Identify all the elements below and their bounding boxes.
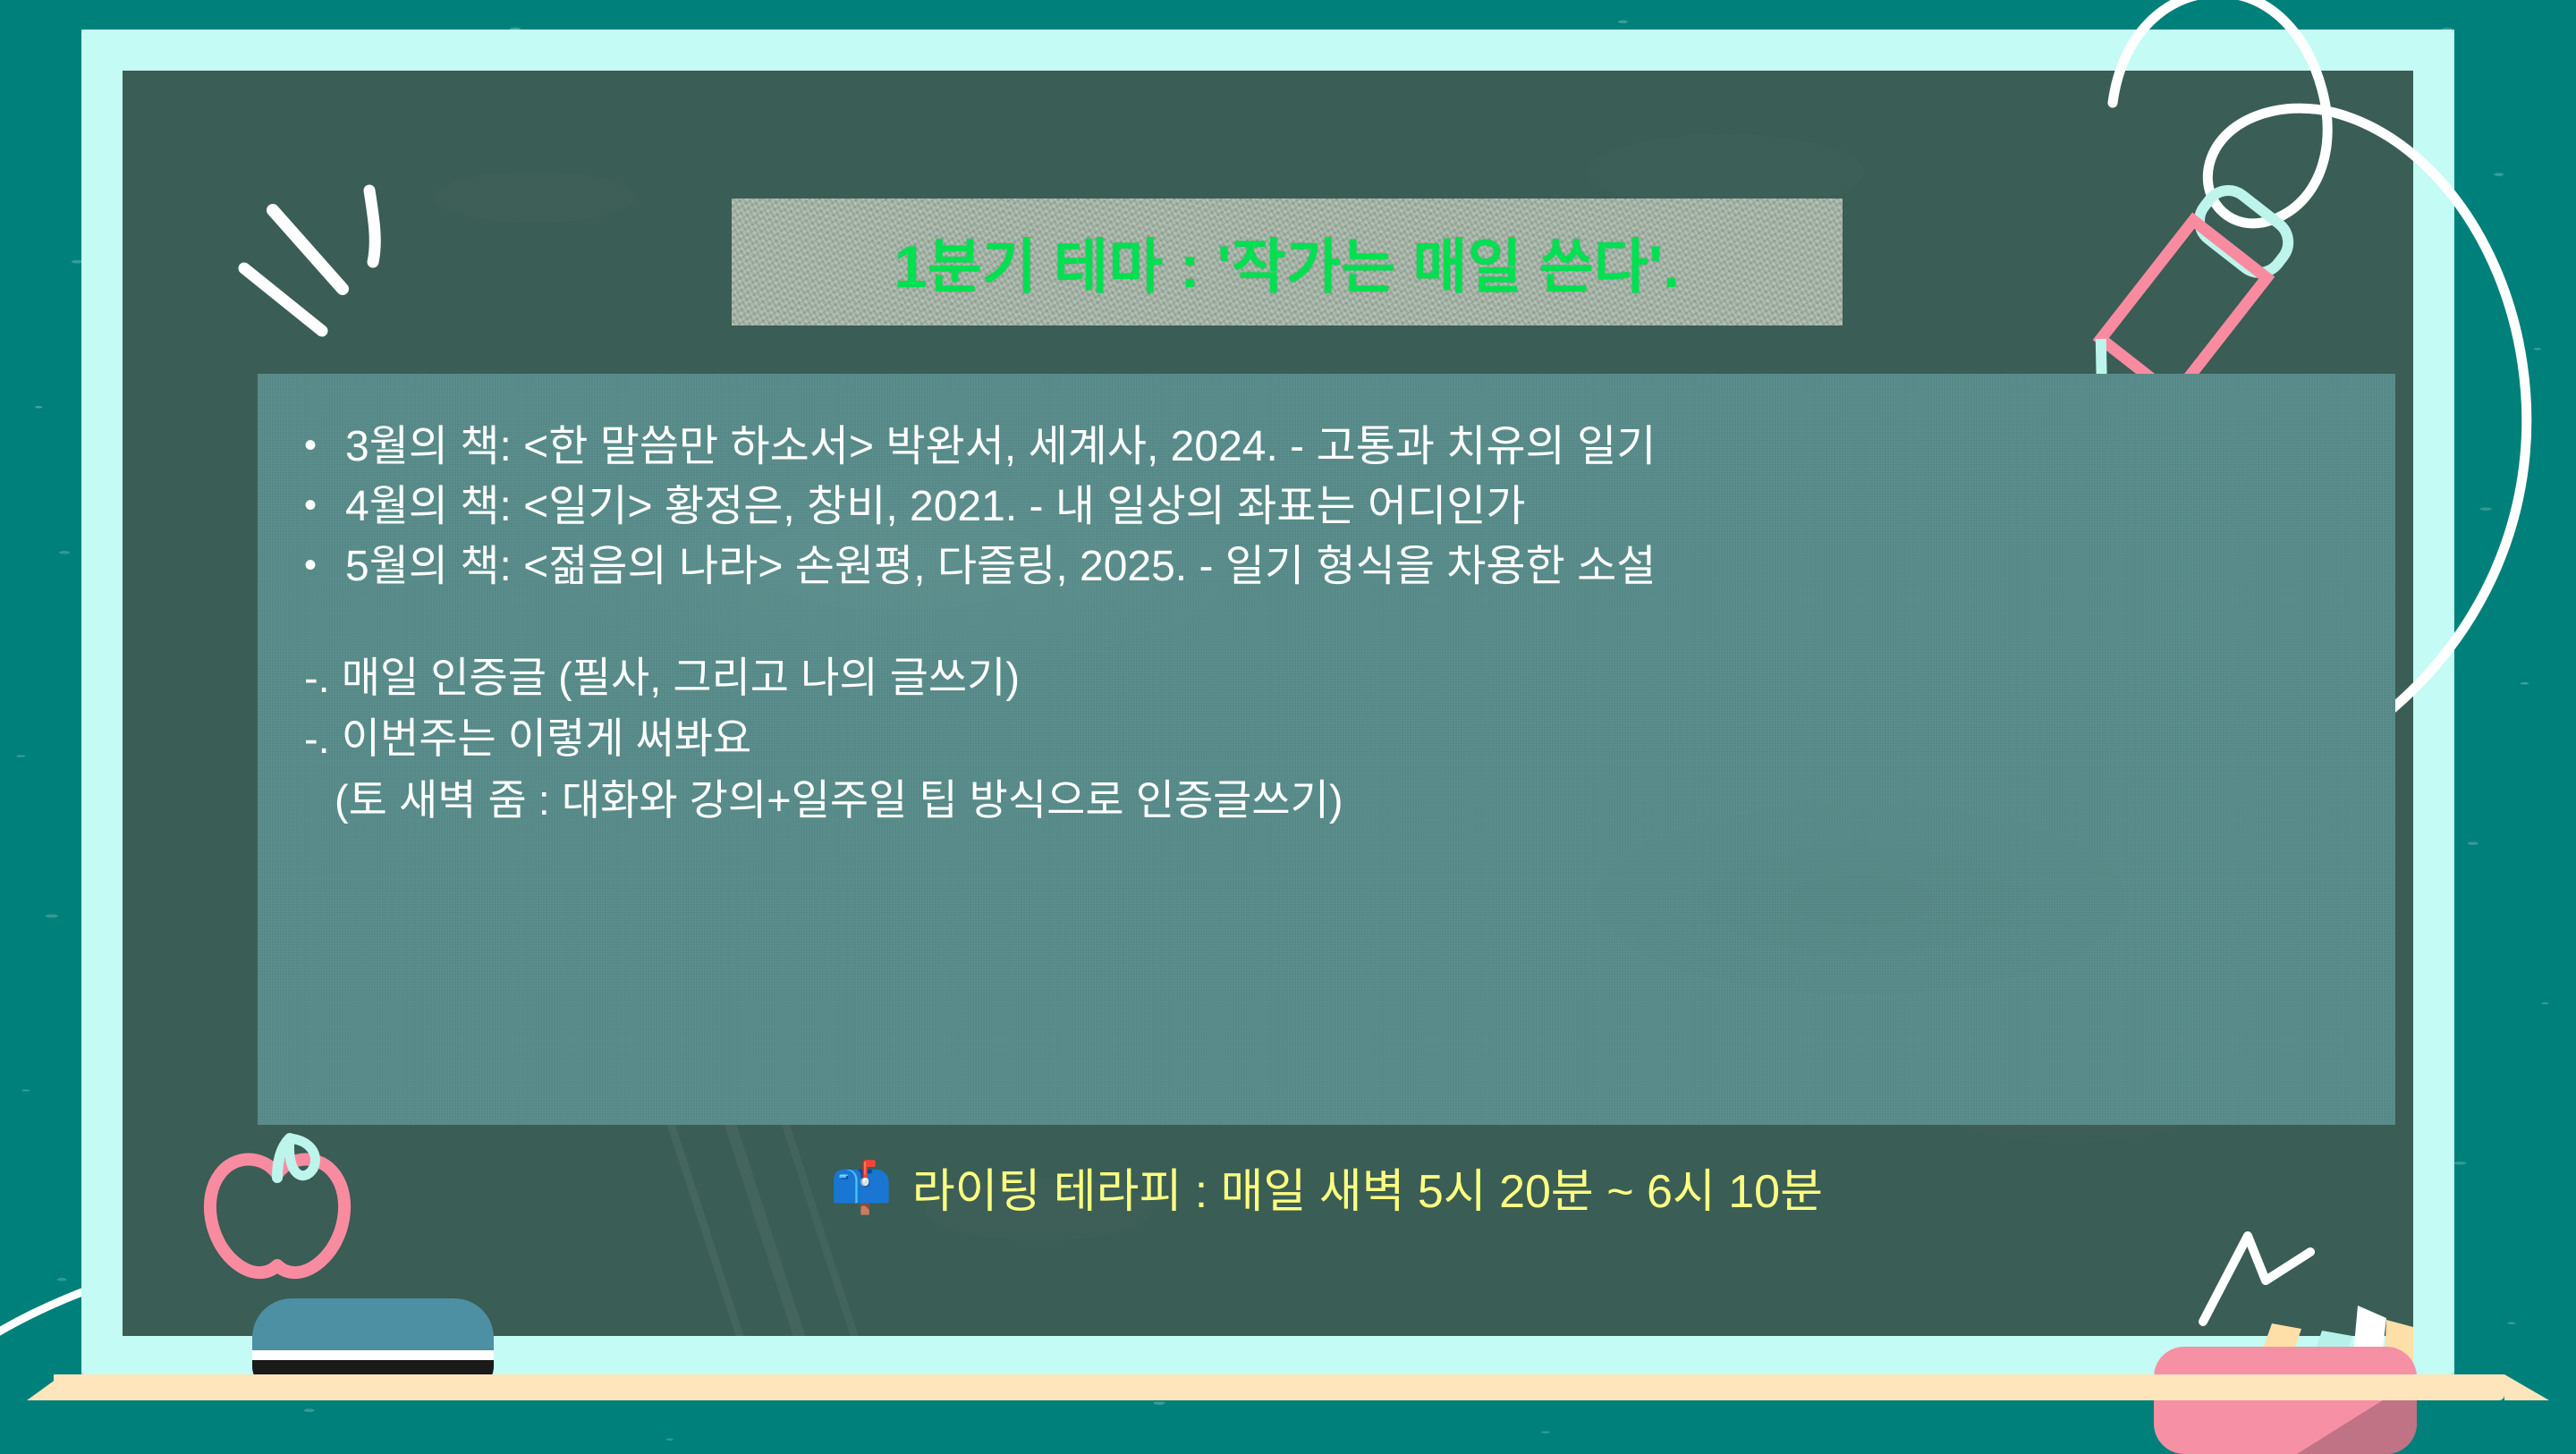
footer-schedule-text: 라이팅 테라피 : 매일 새벽 5시 20분 ~ 6시 10분 — [912, 1154, 1823, 1221]
list-item: • 3월의 책: <한 말씀만 하소서> 박완서, 세계사, 2024. - 고… — [304, 417, 2349, 477]
note-line: (토 새벽 줌 : 대화와 강의+일주일 팁 방식으로 인증글쓰기) — [304, 770, 2349, 832]
list-item: • 5월의 책: <젊음의 나라> 손원평, 다즐링, 2025. - 일기 형… — [304, 537, 2349, 596]
note-line: -. 이번주는 이렇게 써봐요 — [304, 708, 2349, 770]
bullet-dot-icon: • — [304, 427, 345, 463]
list-item: • 4월의 책: <일기> 황정은, 창비, 2021. - 내 일상의 좌표는… — [304, 477, 2349, 537]
mailbox-with-raised-flag-icon: 📫 — [830, 1162, 893, 1213]
content-panel: • 3월의 책: <한 말씀만 하소서> 박완서, 세계사, 2024. - 고… — [258, 374, 2395, 1125]
title-highlight-bar: 1분기 테마 : '작가는 매일 쓴다'. — [732, 199, 1843, 325]
spacer — [304, 597, 2349, 647]
list-item-text: 5월의 책: <젊음의 나라> 손원평, 다즐링, 2025. - 일기 형식을… — [345, 537, 1656, 596]
list-item-text: 4월의 책: <일기> 황정은, 창비, 2021. - 내 일상의 좌표는 어… — [345, 477, 1526, 537]
bullet-dot-icon: • — [304, 547, 345, 583]
bullet-dot-icon: • — [304, 487, 345, 523]
list-item-text: 3월의 책: <한 말씀만 하소서> 박완서, 세계사, 2024. - 고통과… — [345, 417, 1656, 477]
note-line: -. 매일 인증글 (필사, 그리고 나의 글쓰기) — [304, 647, 2349, 709]
chalk-ledge — [54, 1374, 2504, 1400]
footer-schedule: 📫 라이팅 테라피 : 매일 새벽 5시 20분 ~ 6시 10분 — [258, 1154, 2395, 1221]
slide-canvas: 1분기 테마 : '작가는 매일 쓴다'. • 3월의 책: <한 말씀만 하소… — [0, 0, 2576, 1454]
page-title: 1분기 테마 : '작가는 매일 쓴다'. — [894, 219, 1681, 305]
